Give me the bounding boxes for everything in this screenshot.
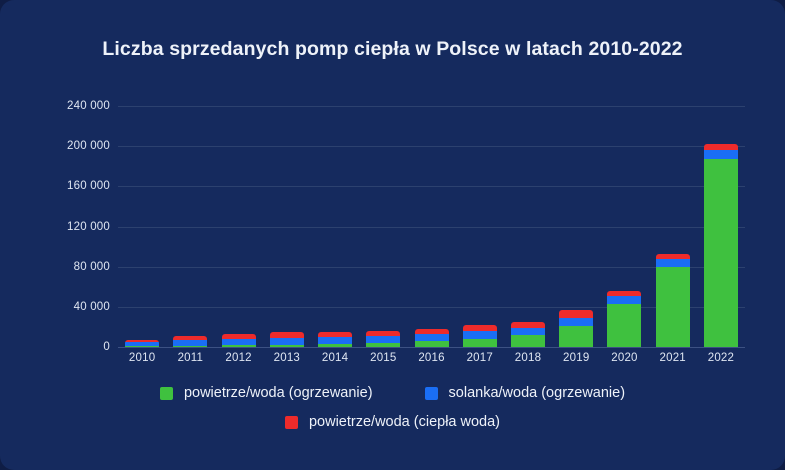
legend-item-green[interactable]: powietrze/woda (ogrzewanie) bbox=[160, 385, 373, 401]
x-axis-tick-label-2019: 2019 bbox=[552, 352, 600, 364]
bar-slot-2013[interactable] bbox=[263, 106, 311, 347]
bar-stack-2016[interactable] bbox=[415, 329, 449, 347]
bar-stack-2013[interactable] bbox=[270, 332, 304, 347]
x-axis-tick-label-2021: 2021 bbox=[649, 352, 697, 364]
x-axis-tick-label-2011: 2011 bbox=[166, 352, 214, 364]
legend-label: powietrze/woda (ciepła woda) bbox=[309, 414, 500, 430]
x-axis-tick-label-2014: 2014 bbox=[311, 352, 359, 364]
y-axis-tick-label: 0 bbox=[14, 341, 110, 353]
gridline-0 bbox=[118, 347, 745, 348]
bar-segment-2022-series-1[interactable] bbox=[704, 150, 738, 159]
chart-legend: powietrze/woda (ogrzewanie)solanka/woda … bbox=[0, 385, 785, 443]
bar-slot-2018[interactable] bbox=[504, 106, 552, 347]
bar-segment-2017-series-1[interactable] bbox=[463, 331, 497, 339]
bar-segment-2018-series-0[interactable] bbox=[511, 335, 545, 347]
x-axis-labels: 2010201120122013201420152016201720182019… bbox=[118, 352, 745, 364]
bar-stack-2019[interactable] bbox=[559, 310, 593, 347]
bar-segment-2017-series-0[interactable] bbox=[463, 339, 497, 347]
bar-stack-2018[interactable] bbox=[511, 322, 545, 347]
bar-segment-2012-series-0[interactable] bbox=[222, 345, 256, 347]
x-axis-tick-label-2018: 2018 bbox=[504, 352, 552, 364]
y-axis-labels: 040 00080 000120 000160 000200 000240 00… bbox=[8, 106, 110, 347]
legend-label: powietrze/woda (ogrzewanie) bbox=[184, 385, 373, 401]
bar-stack-2011[interactable] bbox=[173, 336, 207, 347]
x-axis-tick-label-2012: 2012 bbox=[214, 352, 262, 364]
y-axis-tick-label: 200 000 bbox=[14, 140, 110, 152]
bar-slot-2020[interactable] bbox=[600, 106, 648, 347]
legend-swatch-blue bbox=[425, 387, 438, 400]
bar-stack-2012[interactable] bbox=[222, 334, 256, 347]
bar-segment-2016-series-1[interactable] bbox=[415, 334, 449, 341]
x-axis-tick-label-2020: 2020 bbox=[600, 352, 648, 364]
bar-segment-2010-series-0[interactable] bbox=[125, 346, 159, 347]
bar-segment-2019-series-1[interactable] bbox=[559, 318, 593, 326]
legend-label: solanka/woda (ogrzewanie) bbox=[449, 385, 626, 401]
legend-item-red[interactable]: powietrze/woda (ciepła woda) bbox=[285, 414, 500, 430]
bar-segment-2014-series-0[interactable] bbox=[318, 344, 352, 347]
bar-segment-2019-series-0[interactable] bbox=[559, 326, 593, 347]
x-axis-tick-label-2022: 2022 bbox=[697, 352, 745, 364]
bar-slot-2022[interactable] bbox=[697, 106, 745, 347]
legend-item-blue[interactable]: solanka/woda (ogrzewanie) bbox=[425, 385, 626, 401]
y-axis-tick-label: 160 000 bbox=[14, 180, 110, 192]
bar-slot-2019[interactable] bbox=[552, 106, 600, 347]
bar-stack-2020[interactable] bbox=[607, 291, 641, 347]
y-axis-tick-label: 40 000 bbox=[14, 301, 110, 313]
x-axis-tick-label-2017: 2017 bbox=[456, 352, 504, 364]
x-axis-tick-label-2010: 2010 bbox=[118, 352, 166, 364]
bar-slot-2016[interactable] bbox=[407, 106, 455, 347]
bar-stack-2014[interactable] bbox=[318, 332, 352, 347]
chart-card: Liczba sprzedanych pomp ciepła w Polsce … bbox=[0, 0, 785, 470]
x-axis-tick-label-2013: 2013 bbox=[263, 352, 311, 364]
bar-segment-2020-series-0[interactable] bbox=[607, 304, 641, 347]
bar-segment-2016-series-0[interactable] bbox=[415, 341, 449, 347]
bar-slot-2014[interactable] bbox=[311, 106, 359, 347]
bar-segment-2018-series-1[interactable] bbox=[511, 328, 545, 335]
bar-segment-2015-series-0[interactable] bbox=[366, 343, 400, 347]
y-axis-tick-label: 80 000 bbox=[14, 261, 110, 273]
bar-segment-2021-series-0[interactable] bbox=[656, 267, 690, 347]
bar-stack-2015[interactable] bbox=[366, 331, 400, 347]
bar-slot-2012[interactable] bbox=[214, 106, 262, 347]
bar-segment-2021-series-1[interactable] bbox=[656, 259, 690, 267]
bar-slot-2010[interactable] bbox=[118, 106, 166, 347]
legend-row-1: powietrze/woda (ciepła woda) bbox=[0, 414, 785, 430]
bar-stack-2022[interactable] bbox=[704, 144, 738, 347]
bar-segment-2011-series-0[interactable] bbox=[173, 346, 207, 348]
bar-segment-2020-series-1[interactable] bbox=[607, 296, 641, 304]
bar-segment-2013-series-0[interactable] bbox=[270, 345, 304, 348]
bars-layer bbox=[118, 106, 745, 347]
y-axis-tick-label: 120 000 bbox=[14, 221, 110, 233]
chart-title: Liczba sprzedanych pomp ciepła w Polsce … bbox=[0, 38, 785, 61]
bar-stack-2021[interactable] bbox=[656, 254, 690, 347]
legend-swatch-green bbox=[160, 387, 173, 400]
legend-swatch-red bbox=[285, 416, 298, 429]
bar-stack-2010[interactable] bbox=[125, 340, 159, 347]
x-axis-tick-label-2015: 2015 bbox=[359, 352, 407, 364]
x-axis-tick-label-2016: 2016 bbox=[407, 352, 455, 364]
bar-slot-2017[interactable] bbox=[456, 106, 504, 347]
y-axis-tick-label: 240 000 bbox=[14, 100, 110, 112]
bar-slot-2015[interactable] bbox=[359, 106, 407, 347]
legend-row-0: powietrze/woda (ogrzewanie)solanka/woda … bbox=[0, 385, 785, 401]
bar-segment-2019-series-2[interactable] bbox=[559, 310, 593, 318]
bar-slot-2011[interactable] bbox=[166, 106, 214, 347]
bar-slot-2021[interactable] bbox=[649, 106, 697, 347]
bar-segment-2022-series-0[interactable] bbox=[704, 159, 738, 347]
bar-stack-2017[interactable] bbox=[463, 325, 497, 347]
